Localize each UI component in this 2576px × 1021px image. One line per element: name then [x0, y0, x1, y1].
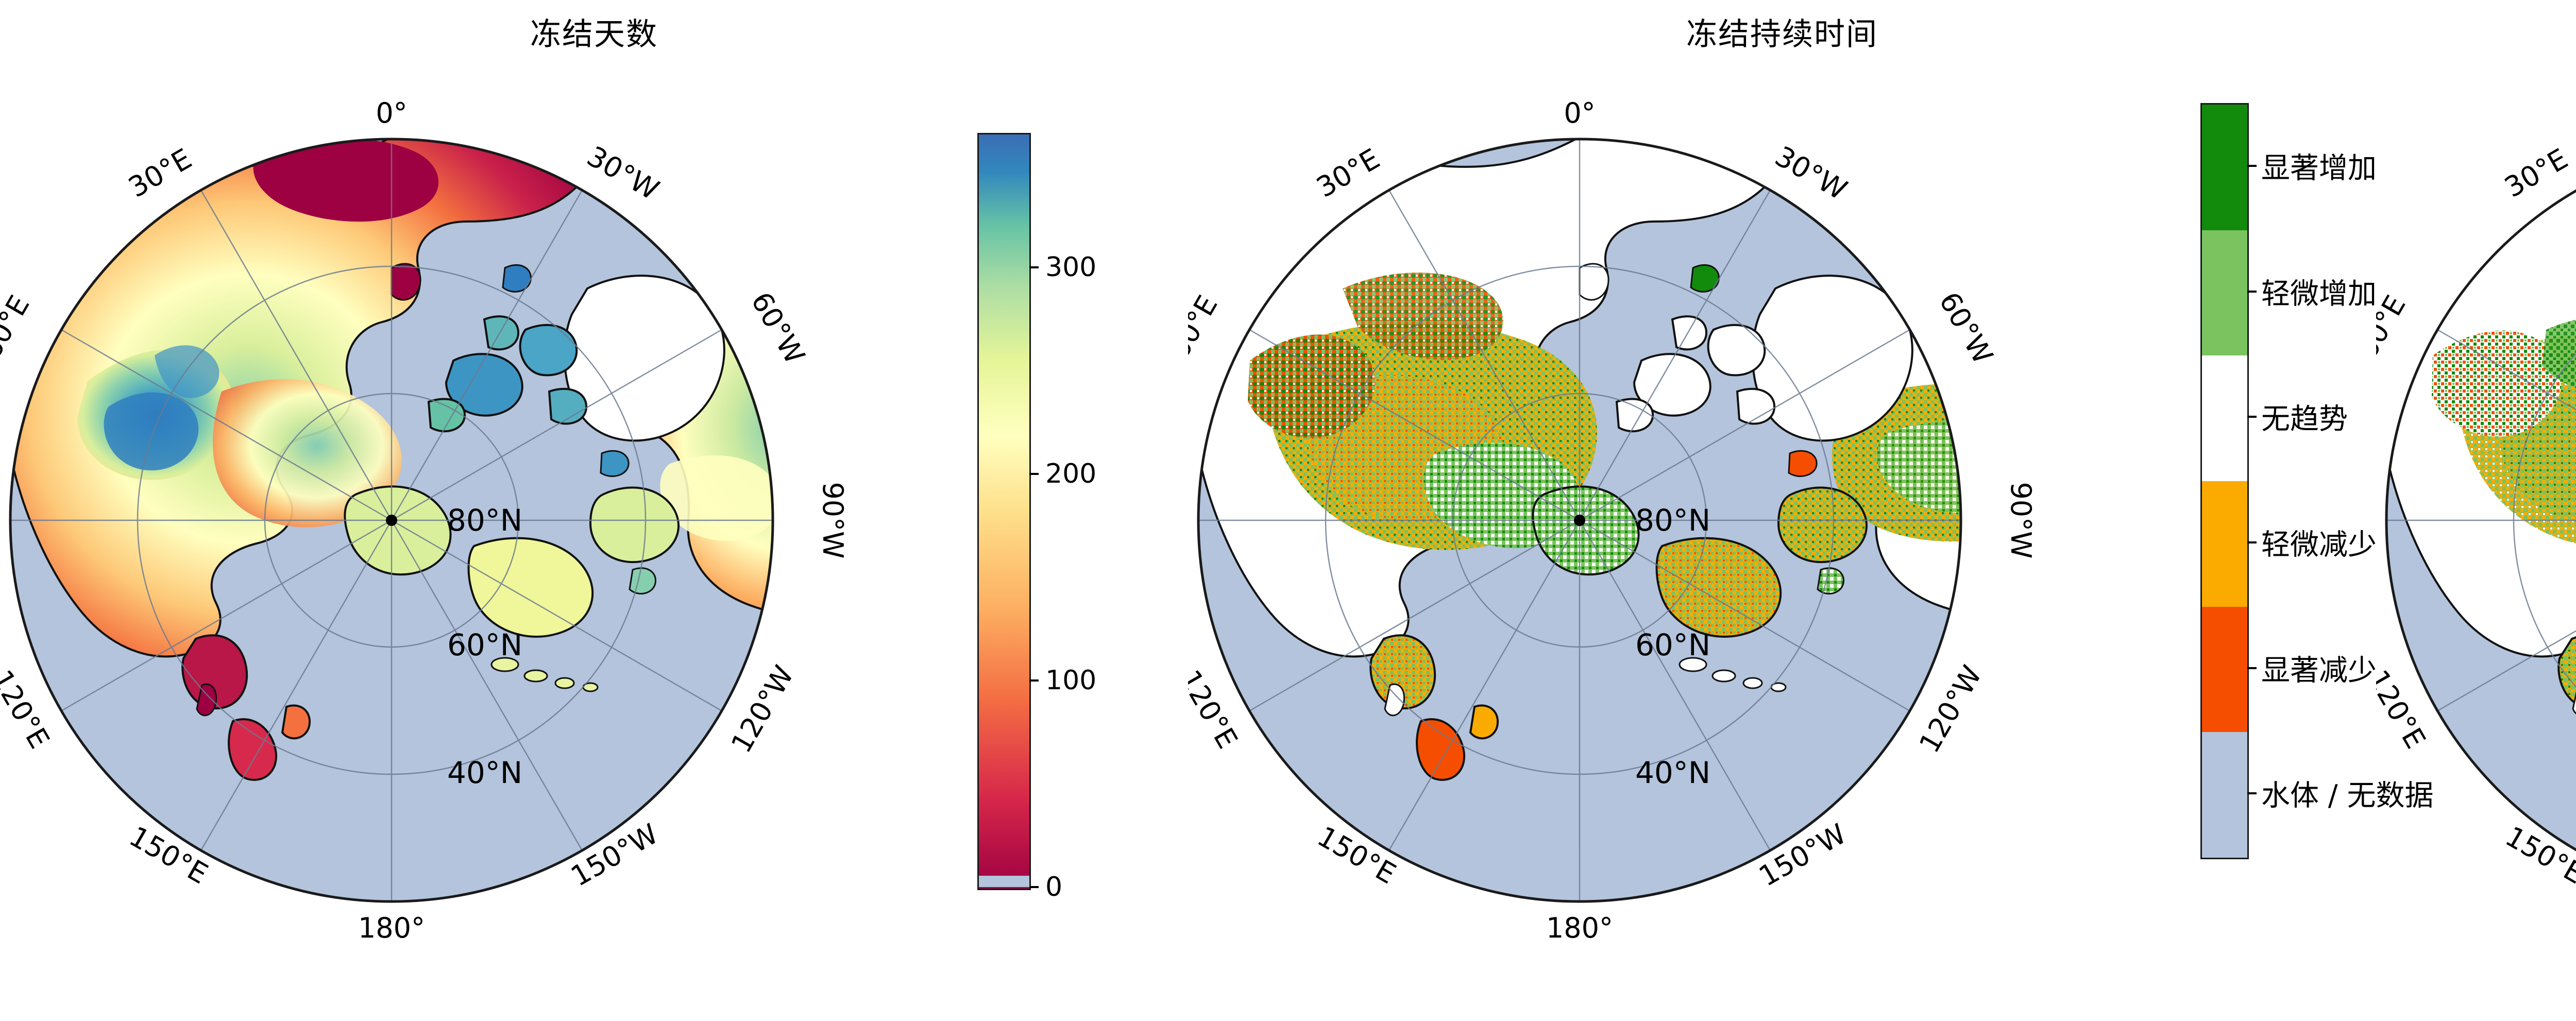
colorbar-category-label: 无趋势	[2261, 396, 2348, 438]
colorbar-tick-mark	[1029, 886, 1039, 888]
colorbar-tick-mark	[2247, 541, 2257, 543]
colorbar-tick-label: 200	[1045, 458, 1096, 489]
figure-root: 冻结天数	[0, 0, 2576, 1021]
pole-marker	[386, 515, 397, 526]
colorbar-under-swatch	[979, 876, 1029, 887]
colorbar-segment	[2202, 607, 2247, 734]
map-svg-freeze-days: 80°N 60°N 40°N 0° 30°W 60°W 90°W 120°W 1…	[0, 0, 907, 1021]
lat-label-40n: 40°N	[447, 755, 522, 790]
lon-label-90w: 90°W	[817, 482, 849, 558]
lon-label-90w: 90°W	[2005, 482, 2037, 558]
lon-label-30e: 30°E	[123, 142, 197, 203]
lat-label-60n: 60°N	[447, 627, 522, 662]
lon-label-0: 0°	[376, 97, 407, 129]
lat-label-40n: 40°N	[1635, 755, 1710, 790]
colorbar-category-label: 显著减少	[2261, 647, 2377, 689]
colorbar-tick-mark	[1029, 266, 1039, 268]
lon-label-180: 180°	[358, 912, 425, 944]
lon-label-60e: 60°E	[0, 290, 36, 364]
lat-label-80n: 80°N	[1635, 503, 1710, 538]
panel-freeze-duration: 冻结持续时间	[1188, 0, 2376, 1021]
lon-label-60e: 60°E	[2376, 290, 2412, 364]
colorbar-segment	[2202, 355, 2247, 482]
colorbar-tick-label: 300	[1045, 252, 1096, 283]
colorbar-tick-mark	[1029, 473, 1039, 475]
lon-label-0: 0°	[1564, 97, 1595, 129]
colorbar-freeze-duration: 显著增加轻微增加无趋势轻微减少显著减少水体 / 无数据	[2095, 0, 2376, 1021]
colorbar-category-label: 显著增加	[2261, 145, 2377, 186]
colorbar-tick-mark	[2247, 667, 2257, 669]
colorbar-tick-mark	[1029, 679, 1039, 682]
colorbar-categorical-freeze-duration	[2200, 103, 2249, 859]
colorbar-segment	[2202, 732, 2247, 858]
map-svg-freeze-onset: 80°N 60°N 40°N 0° 30°W 60°W 90°W 120°W 1…	[2376, 0, 2576, 1021]
colorbar-freeze-days: 0100200300	[907, 0, 1188, 1021]
lat-label-80n: 80°N	[447, 503, 522, 538]
pole-marker	[1574, 515, 1585, 526]
panel-freeze-days: 冻结天数	[0, 0, 1188, 1021]
lon-label-180: 180°	[1546, 912, 1613, 944]
colorbar-segment	[2202, 481, 2247, 608]
lon-label-60e: 60°E	[1188, 290, 1224, 364]
colorbar-tick-mark	[2247, 416, 2257, 418]
lon-label-60w: 60°W	[1933, 286, 1999, 369]
map-freeze-duration: 80°N 60°N 40°N 0° 30°W 60°W 90°W 120°W 1…	[1188, 0, 2095, 1021]
lon-label-30e: 30°E	[2499, 142, 2573, 203]
colorbar-category-label: 轻微增加	[2261, 270, 2377, 312]
colorbar-gradient-freeze-days	[977, 133, 1031, 890]
colorbar-tick-mark	[2247, 291, 2257, 293]
colorbar-tick-mark	[2247, 792, 2257, 794]
lon-label-60w: 60°W	[744, 286, 811, 369]
colorbar-segment	[2202, 230, 2247, 357]
colorbar-category-label: 轻微减少	[2261, 521, 2377, 563]
lon-label-30e: 30°E	[1311, 142, 1385, 203]
map-freeze-days: 80°N 60°N 40°N 0° 30°W 60°W 90°W 120°W 1…	[0, 0, 907, 1021]
map-svg-freeze-duration: 80°N 60°N 40°N 0° 30°W 60°W 90°W 120°W 1…	[1188, 0, 2095, 1021]
colorbar-segment	[2202, 105, 2247, 231]
colorbar-tick-mark	[2247, 165, 2257, 167]
map-freeze-onset: 80°N 60°N 40°N 0° 30°W 60°W 90°W 120°W 1…	[2376, 0, 2576, 1021]
colorbar-tick-label: 100	[1045, 665, 1096, 696]
panel-freeze-onset: 冻结开始时间	[2376, 0, 2576, 1021]
colorbar-tick-label: 0	[1045, 872, 1062, 903]
lat-label-60n: 60°N	[1635, 627, 1710, 662]
